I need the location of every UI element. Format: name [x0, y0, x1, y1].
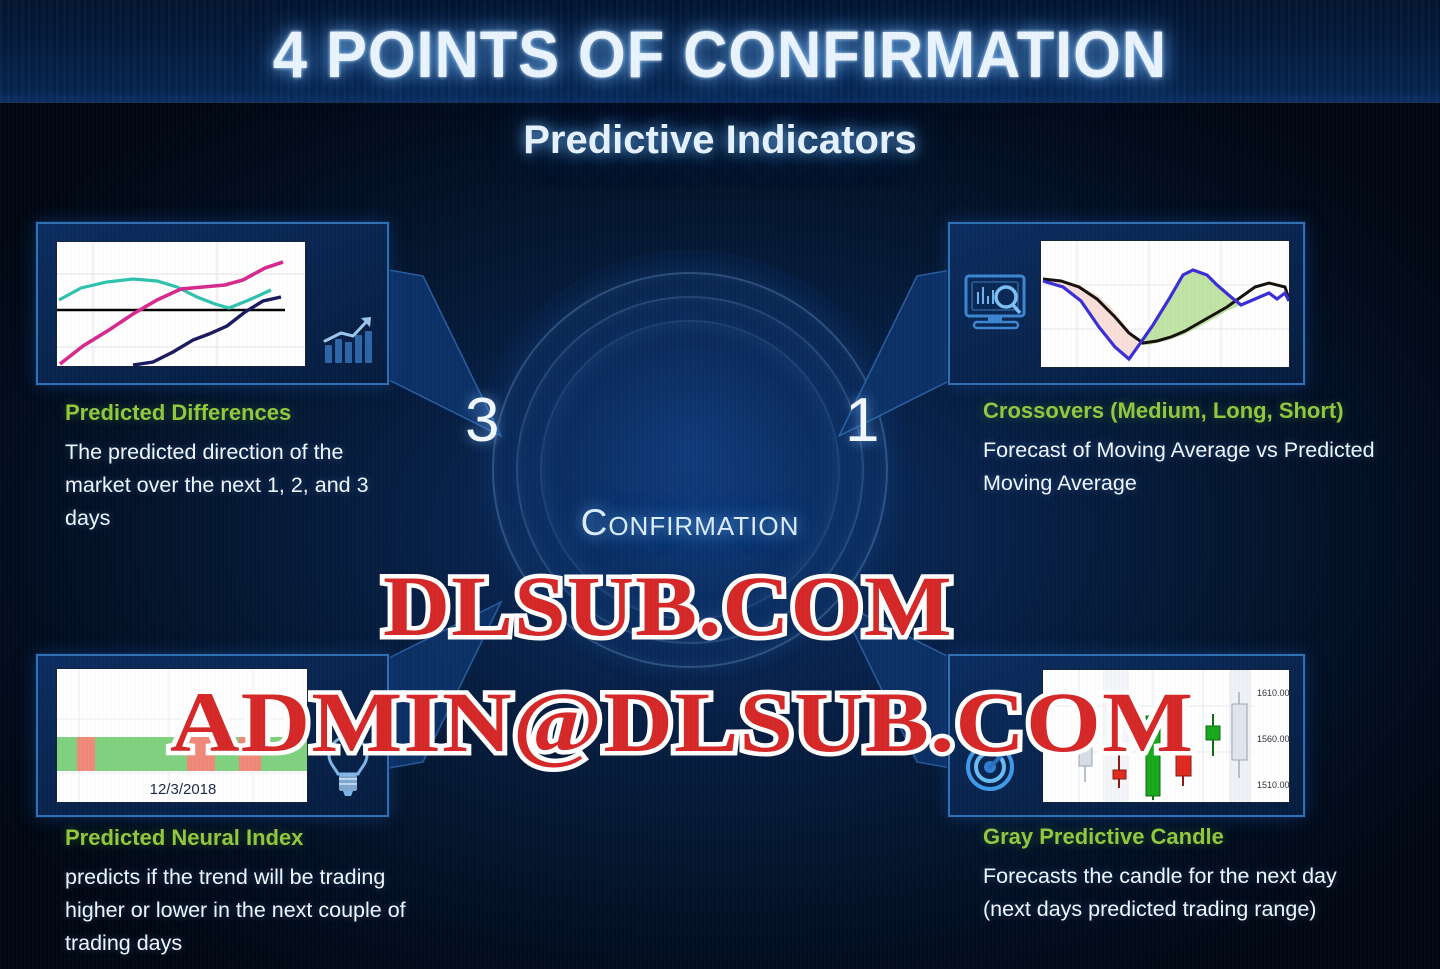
watermark-site-fill: DLSUB.COM	[383, 556, 953, 656]
caption-body-crossovers: Forecast of Moving Average vs Predicted …	[983, 434, 1383, 500]
center-confirmation-label: Confirmation	[470, 502, 910, 544]
page-subtitle: Predictive Indicators	[0, 118, 1440, 163]
chart-date-label: 12/3/2018	[150, 781, 217, 798]
page-title: 4 POINTS OF CONFIRMATION	[50, 16, 1389, 92]
chart-crossovers	[1040, 240, 1290, 368]
caption-title-gray-predictive-candle: Gray Predictive Candle	[983, 824, 1224, 850]
bar-chart-arrow-icon	[321, 311, 379, 367]
caption-body-predicted-neural-index: predicts if the trend will be trading hi…	[65, 861, 425, 960]
axis-label-mid: 1560.00	[1257, 734, 1290, 744]
panel-content	[38, 224, 387, 383]
panel-crossovers[interactable]	[948, 222, 1305, 385]
axis-label-high: 1610.00	[1257, 688, 1290, 698]
caption-title-predicted-neural-index: Predicted Neural Index	[65, 825, 303, 851]
caption-title-predicted-differences: Predicted Differences	[65, 400, 291, 426]
quadrant-number-1: 1	[845, 385, 879, 456]
connector-wedge-top-right	[815, 268, 955, 448]
caption-body-predicted-differences: The predicted direction of the market ov…	[65, 436, 395, 535]
quadrant-number-3: 3	[465, 385, 499, 456]
chart-predicted-differences	[56, 241, 306, 367]
caption-body-gray-predictive-candle: Forecasts the candle for the next day (n…	[983, 860, 1343, 926]
slide-canvas: 4 POINTS OF CONFIRMATION Predictive Indi…	[0, 0, 1440, 969]
connector-wedge-top-left	[385, 268, 525, 448]
panel-content	[950, 224, 1303, 383]
axis-label-low: 1510.00	[1257, 780, 1290, 790]
panel-predicted-differences[interactable]	[36, 222, 389, 385]
monitor-chart-icon	[962, 272, 1032, 338]
caption-title-crossovers: Crossovers (Medium, Long, Short)	[983, 398, 1344, 424]
watermark-email-fill: ADMIN@DLSUB.COM	[170, 672, 1194, 772]
